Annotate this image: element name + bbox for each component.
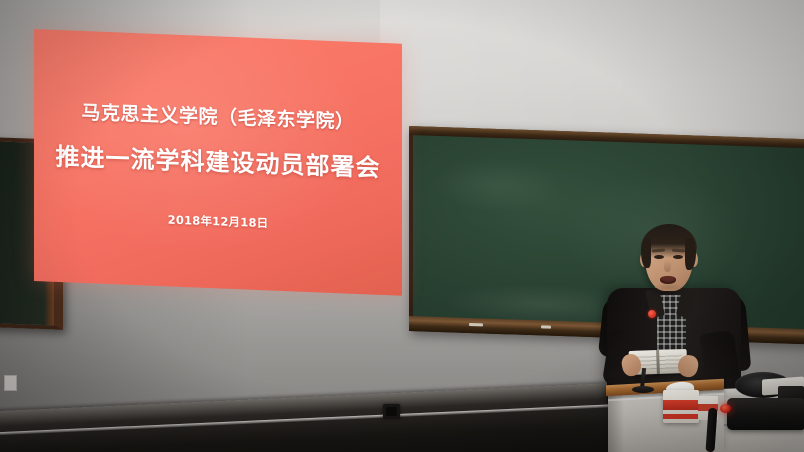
- presenter-eye-left: [654, 255, 664, 259]
- tissue-box-red-band-lower: [663, 414, 699, 419]
- power-led-icon: [720, 404, 731, 413]
- presenter-lapel-badge: [648, 310, 656, 318]
- microphone-base: [632, 386, 654, 393]
- classroom-photo-scene: 马克思主义学院（毛泽东学院） 推进一流学科建设动员部署会 2018年12月18日: [0, 0, 804, 452]
- notebook-spine: [656, 350, 660, 374]
- presenter-chin-shadow: [652, 283, 684, 292]
- presenter-eye-right: [673, 255, 683, 259]
- tissue-box-red-band: [663, 400, 699, 410]
- tissue-box: [663, 390, 699, 423]
- presenter-hair-left: [641, 238, 651, 268]
- presenter-nose: [664, 260, 671, 272]
- document-camera-body: [727, 398, 804, 430]
